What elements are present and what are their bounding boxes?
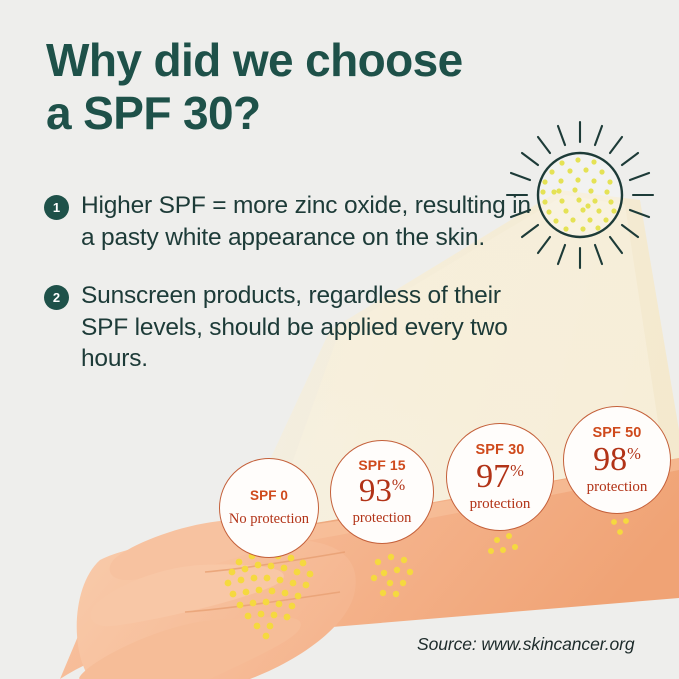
spf-badge-50-value: 98 % — [593, 443, 641, 477]
spf-badge-15-value: 93 % — [359, 475, 405, 508]
source-attribution: Source: www.skincancer.org — [417, 634, 635, 655]
spf-badge-15-sublabel: protection — [353, 510, 412, 527]
spf-badge-15-label: SPF 15 — [358, 457, 405, 473]
points-list: 1 Higher SPF = more zinc oxide, resultin… — [44, 190, 549, 401]
page-title-line-2: a SPF 30? — [46, 87, 586, 140]
spf-badge-50: SPF 50 98 % protection — [563, 406, 671, 514]
spf-badge-15-percent-sign: % — [392, 475, 405, 494]
spf-badge-30-label: SPF 30 — [476, 442, 525, 458]
spf-badge-30-sublabel: protection — [470, 496, 531, 513]
spf-badge-50-sublabel: protection — [587, 479, 648, 496]
spf-badge-50-percent-sign: % — [627, 443, 641, 463]
page-title-line-1: Why did we choose — [46, 34, 586, 87]
spf-badge-30-number: 97 — [476, 460, 510, 494]
list-item-2: 2 Sunscreen products, regardless of thei… — [44, 280, 549, 376]
spf-badge-30-percent-sign: % — [510, 460, 524, 480]
spf-badge-30: SPF 30 97 % protection — [446, 423, 554, 531]
page-title: Why did we choose a SPF 30? — [46, 34, 586, 141]
spf-badge-15-number: 93 — [359, 475, 392, 508]
list-item-2-text: Sunscreen products, regardless of their … — [81, 280, 549, 376]
spf-badge-50-number: 98 — [593, 443, 627, 477]
spf-badge-30-value: 97 % — [476, 460, 524, 494]
spf-badge-0-label: SPF 0 — [250, 488, 288, 503]
number-badge-2: 2 — [44, 285, 69, 310]
number-badge-1: 1 — [44, 195, 69, 220]
spf-badge-0: SPF 0 No protection — [219, 458, 319, 558]
list-item-1-text: Higher SPF = more zinc oxide, resulting … — [81, 190, 549, 254]
infographic-canvas: Why did we choose a SPF 30? 1 Higher SPF… — [0, 0, 679, 679]
list-item-1: 1 Higher SPF = more zinc oxide, resultin… — [44, 190, 549, 254]
spf-badge-0-sublabel: No protection — [229, 511, 309, 528]
spf-badge-50-label: SPF 50 — [593, 425, 642, 441]
spf-badge-15: SPF 15 93 % protection — [330, 440, 434, 544]
